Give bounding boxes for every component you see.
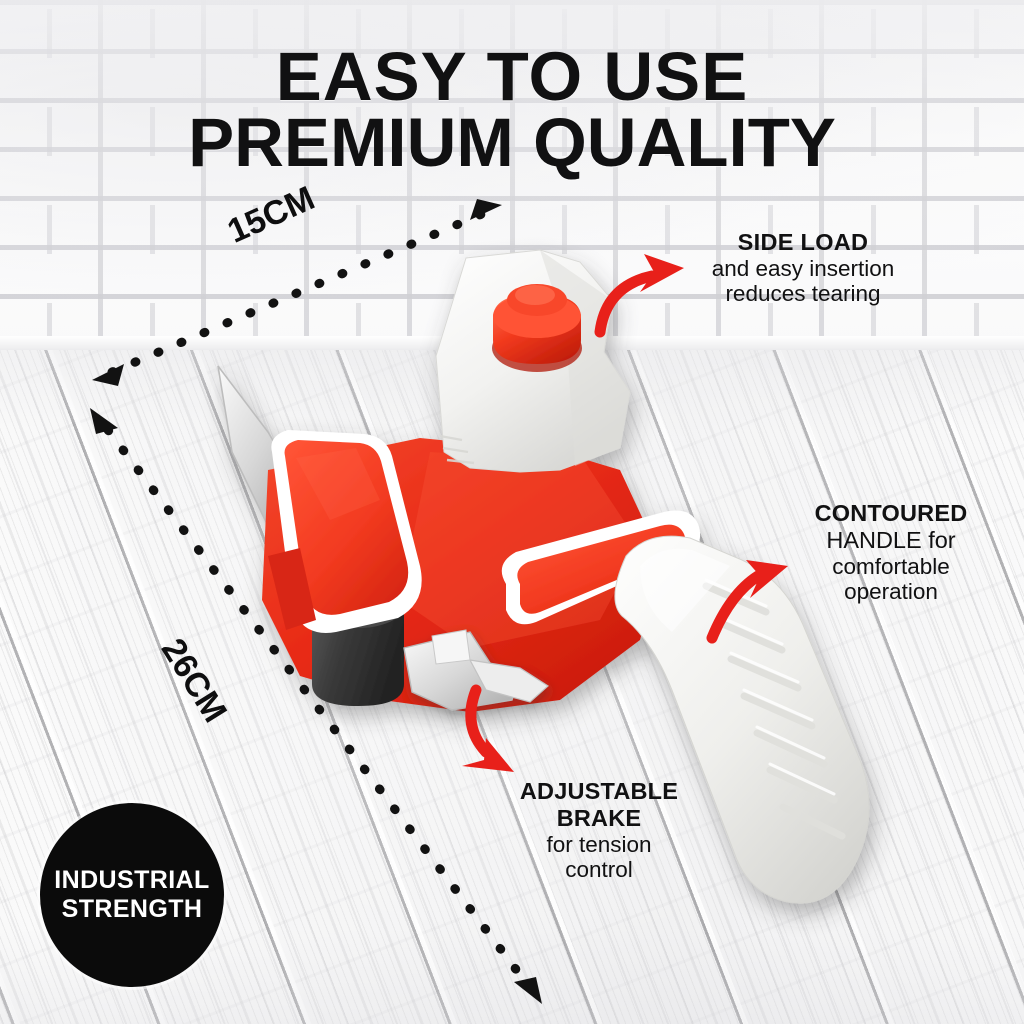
callout-brake-body-2: control [492, 857, 706, 883]
badge-line-2: STRENGTH [62, 895, 203, 924]
callout-handle-body-1: comfortable [784, 554, 998, 580]
industrial-strength-badge: INDUSTRIAL STRENGTH [40, 803, 224, 987]
callout-side-load-body-2: reduces tearing [688, 281, 918, 307]
callout-side-load: SIDE LOAD and easy insertion reduces tea… [688, 229, 918, 307]
product-infographic: EASY TO USE PREMIUM QUALITY 15CM 26CM SI… [0, 0, 1024, 1024]
callout-side-load-body-1: and easy insertion [688, 256, 918, 282]
callout-brake-body-1: for tension [492, 832, 706, 858]
callout-contoured-handle: CONTOURED HANDLE for comfortable operati… [784, 500, 998, 605]
page-title-line-2: PREMIUM QUALITY [0, 108, 1024, 177]
callout-adjustable-brake: ADJUSTABLE BRAKE for tension control [492, 778, 706, 883]
badge-line-1: INDUSTRIAL [54, 866, 209, 895]
callout-brake-heading-2: BRAKE [492, 805, 706, 832]
callout-handle-body-2: operation [784, 579, 998, 605]
callout-side-load-heading: SIDE LOAD [688, 229, 918, 256]
callout-brake-heading-1: ADJUSTABLE [492, 778, 706, 805]
page-title-line-1: EASY TO USE [0, 42, 1024, 111]
callout-handle-heading-2: HANDLE for [784, 527, 998, 554]
callout-handle-heading-1: CONTOURED [784, 500, 998, 527]
